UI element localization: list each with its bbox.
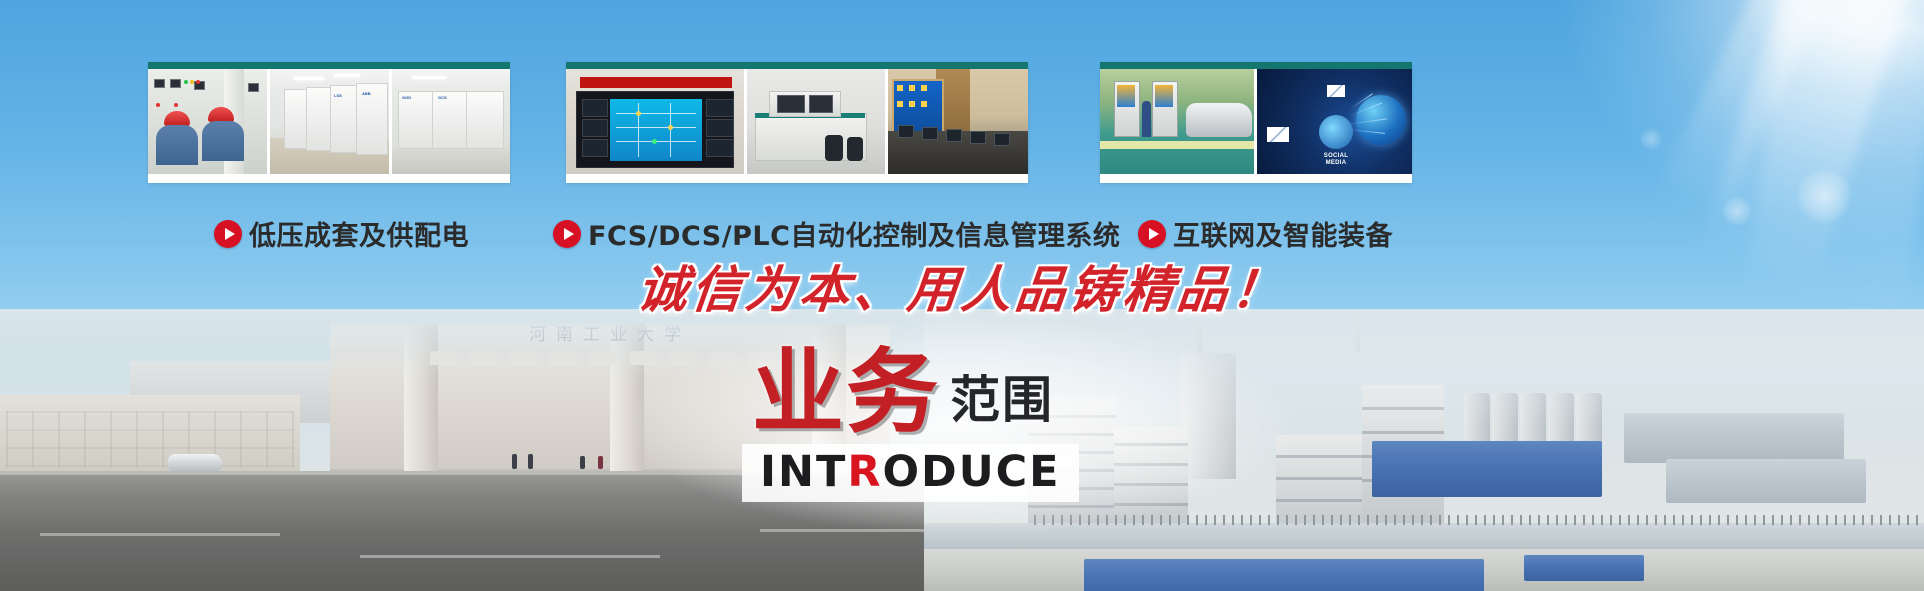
parked-car — [168, 454, 222, 471]
envelope-icon — [1267, 127, 1289, 142]
title-main-cn: 业务 — [752, 348, 940, 438]
play-triangle-icon — [214, 220, 242, 248]
thumb-control-room-video-wall[interactable] — [566, 69, 747, 174]
foreground-roof — [1084, 559, 1484, 591]
warehouse-roof-pale — [1666, 459, 1866, 503]
title-en-part2: ODUCE — [882, 447, 1060, 497]
warehouse-roof — [1372, 441, 1602, 497]
gate-inscription: 河南工业大学 — [430, 320, 790, 345]
gate-dentil-row — [430, 351, 790, 365]
title-sub-cn: 范围 — [950, 360, 1054, 432]
category-group-1[interactable]: LSS ABB GGD GCS — [148, 62, 510, 183]
social-media-label-line2: MEDIA — [1315, 160, 1357, 166]
canal — [924, 523, 1924, 549]
title-en-bar: INTRODUCE — [742, 444, 1079, 502]
pedestrian — [528, 454, 533, 469]
envelope-icon — [1327, 85, 1345, 97]
frame-top-bar — [566, 62, 1028, 69]
pedestrian — [512, 454, 517, 469]
caption-label: 互联网及智能装备 — [1173, 214, 1393, 253]
pedestrian — [598, 456, 603, 469]
caption-category-3[interactable]: 互联网及智能装备 — [1138, 214, 1393, 253]
thumb-switchgear-panel-with-workers[interactable] — [148, 69, 270, 174]
banner-stage: 河南工业大学 — [0, 0, 1924, 591]
gate-column-left — [404, 323, 438, 473]
category-thumbnails: LSS ABB GGD GCS — [0, 62, 1924, 212]
perimeter-fence — [1034, 515, 1924, 525]
play-triangle-icon — [553, 220, 581, 248]
section-title: 业务 范围 INTRODUCE — [742, 348, 1182, 502]
play-triangle-icon — [1138, 220, 1166, 248]
caption-category-2[interactable]: FCS/DCS/PLC自动化控制及信息管理系统 — [553, 214, 1120, 253]
social-media-label-line1: SOCIAL — [1315, 153, 1357, 159]
wall-pattern — [6, 411, 294, 467]
caption-label: FCS/DCS/PLC自动化控制及信息管理系统 — [588, 214, 1120, 253]
title-en-part1: INT — [760, 447, 847, 497]
category-group-3[interactable]: SOCIAL MEDIA — [1100, 62, 1412, 183]
caption-category-1[interactable]: 低压成套及供配电 — [214, 214, 469, 253]
title-en-accent-letter: R — [847, 447, 882, 497]
thumb-operator-console-desk[interactable] — [747, 69, 888, 174]
category-group-2[interactable] — [566, 62, 1028, 183]
pedestrian — [580, 456, 585, 469]
thumb-monitoring-room-mimic-board[interactable] — [888, 69, 1028, 174]
thumb-social-media-network-globe[interactable]: SOCIAL MEDIA — [1257, 69, 1412, 174]
gate-column-mid — [610, 323, 644, 473]
frame-top-bar — [148, 62, 510, 69]
company-slogan: 诚信为本、用人品铸精品！ — [0, 250, 1924, 322]
caption-label: 低压成套及供配电 — [249, 214, 469, 253]
thumb-switchgear-cabinet-hall[interactable]: LSS ABB — [270, 69, 392, 174]
frame-top-bar — [1100, 62, 1412, 69]
category-captions: 低压成套及供配电 FCS/DCS/PLC自动化控制及信息管理系统 互联网及智能装… — [0, 214, 1924, 254]
thumb-ev-charging-station[interactable] — [1100, 69, 1257, 174]
thumb-switchgear-cabinet-row[interactable]: GGD GCS — [392, 69, 510, 174]
foreground-roof-small — [1524, 555, 1644, 581]
